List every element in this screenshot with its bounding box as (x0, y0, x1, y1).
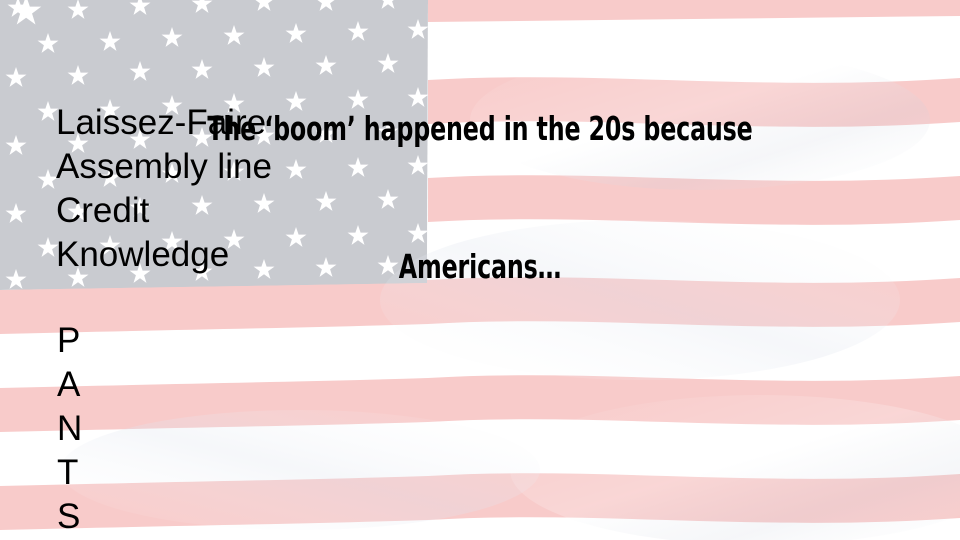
acrostic-letter: S (57, 495, 82, 539)
acrostic-letter: A (57, 363, 82, 407)
acrostic-letter: N (57, 407, 82, 451)
body-list: Laissez-Faire Assembly line Credit Knowl… (56, 101, 272, 277)
acrostic-column: P A N T S (57, 319, 82, 539)
slide-canvas: The ‘boom’ happened in the 20s because A… (0, 0, 960, 540)
list-item: Assembly line (56, 145, 272, 189)
acrostic-letter: P (57, 319, 82, 363)
list-item: Laissez-Faire (56, 101, 272, 145)
list-item: Knowledge (56, 233, 272, 277)
acrostic-letter: T (57, 451, 82, 495)
list-item: Credit (56, 189, 272, 233)
